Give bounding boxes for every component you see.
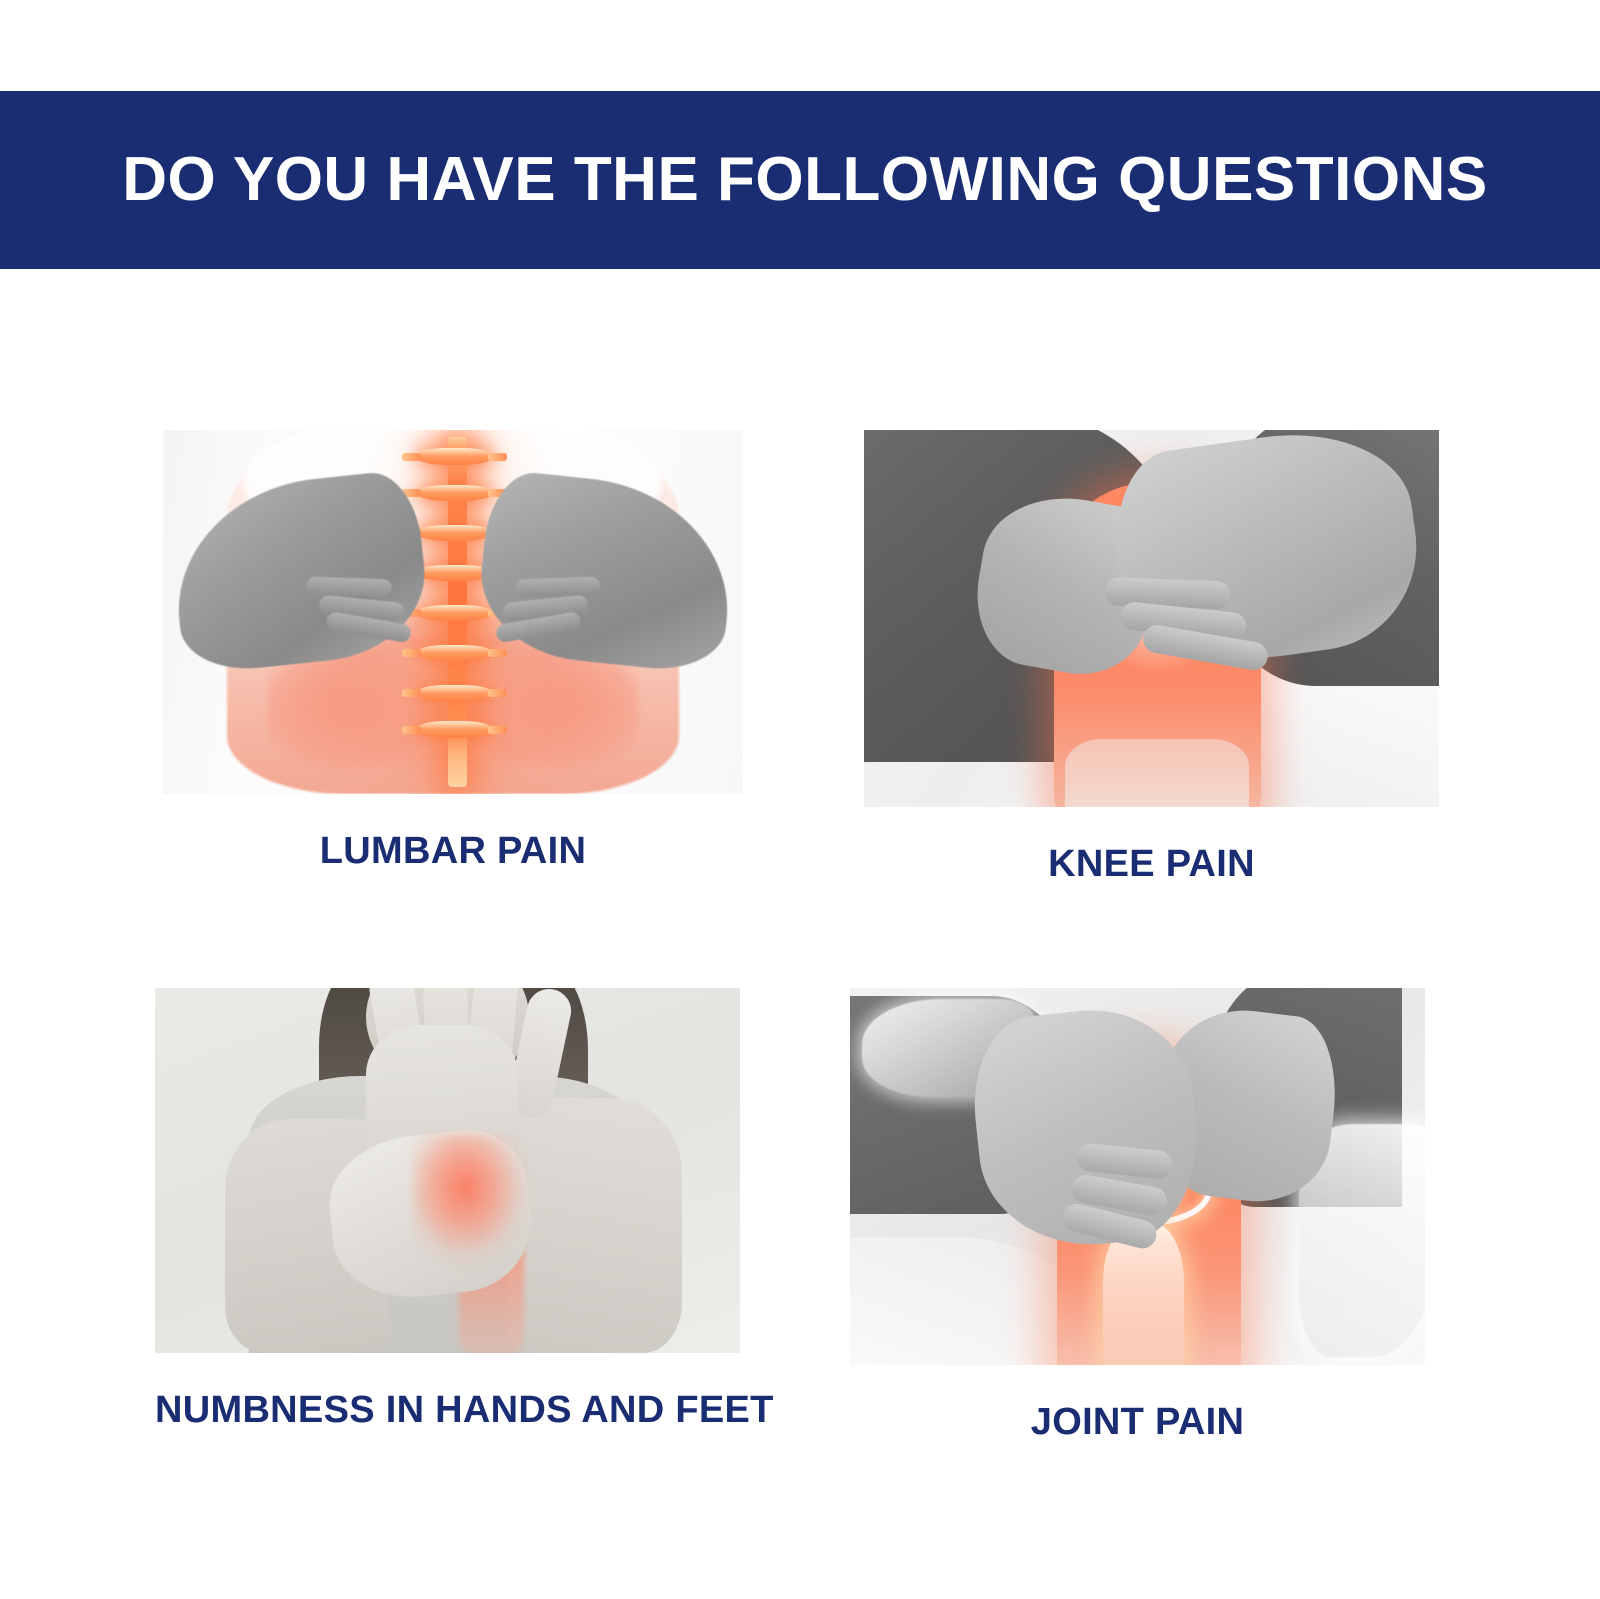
symptom-row-2: NUMBNESS IN HANDS AND FEET [0,988,1600,1441]
finger-shape [515,576,600,597]
hand-pain-highlight [412,1134,529,1287]
right-sleeve-shape [506,1098,682,1354]
vertebra-shape [418,721,491,738]
card-lumbar-pain[interactable]: LUMBAR PAIN [163,430,743,883]
finger-shape [1075,1142,1174,1180]
finger-shape [306,576,391,597]
vertebra-shape [418,565,491,582]
vertebra-shape [418,525,491,542]
card-caption-numbness: NUMBNESS IN HANDS AND FEET [155,1391,740,1429]
card-caption-joint-pain: JOINT PAIN [850,1403,1425,1441]
joint-pain-image [850,988,1425,1365]
vertebra-shape [418,685,491,702]
poster-page: DO YOU HAVE THE FOLLOWING QUESTIONS [0,0,1600,1599]
symptom-grid: LUMBAR PAIN KN [0,430,1600,1441]
card-numbness-hands-feet[interactable]: NUMBNESS IN HANDS AND FEET [155,988,740,1441]
lumbar-pain-image [163,430,743,794]
vertebra-shape [418,645,491,662]
vertebra-shape [418,485,491,502]
vertebra-shape [418,605,491,622]
numbness-image [155,988,740,1353]
page-title: DO YOU HAVE THE FOLLOWING QUESTIONS [112,149,1488,211]
card-caption-lumbar-pain: LUMBAR PAIN [163,832,743,870]
header-banner: DO YOU HAVE THE FOLLOWING QUESTIONS [0,91,1600,269]
card-joint-pain[interactable]: JOINT PAIN [850,988,1425,1441]
symptom-row-1: LUMBAR PAIN KN [0,430,1600,883]
card-caption-knee-pain: KNEE PAIN [864,845,1439,883]
card-knee-pain[interactable]: KNEE PAIN [864,430,1439,883]
knee-pain-image [864,430,1439,807]
finger-shape [1104,576,1230,609]
calf-shape [1065,739,1249,807]
vertebra-shape [418,448,491,465]
